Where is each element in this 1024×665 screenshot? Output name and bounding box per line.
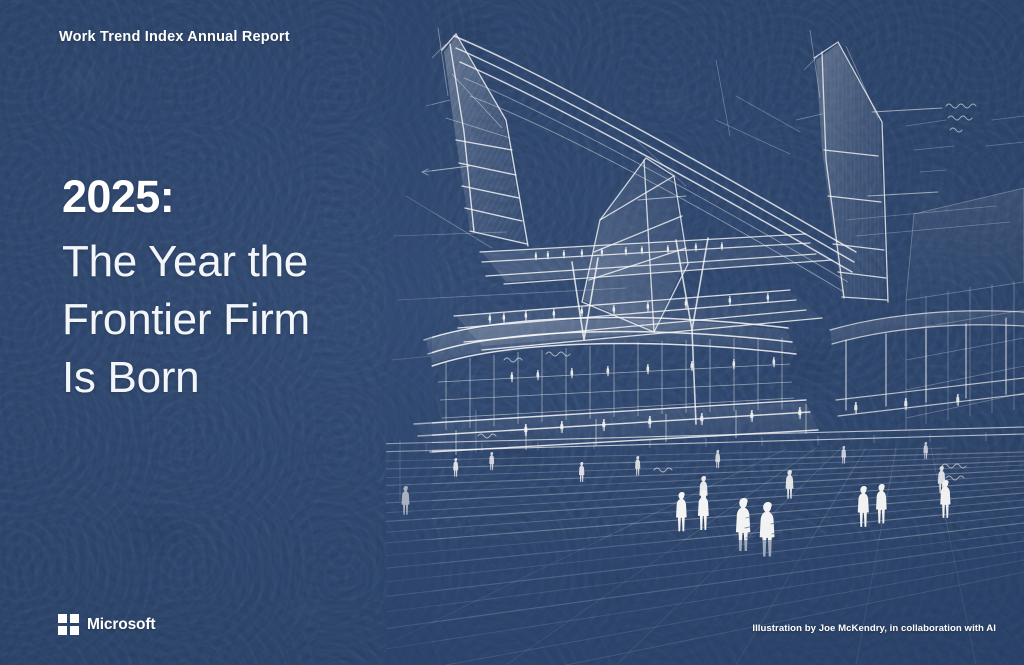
- report-cover-page: Work Trend Index Annual Report 2025: The…: [0, 0, 1024, 665]
- page-title-year: 2025:: [62, 174, 392, 219]
- microsoft-logo: Microsoft: [58, 614, 155, 635]
- sail-towers: [426, 28, 888, 332]
- logo-tile-top-right: [70, 614, 79, 623]
- cover-illustration: [386, 0, 1024, 665]
- figure-pair-left: [676, 492, 687, 531]
- microsoft-wordmark: Microsoft: [87, 616, 155, 634]
- page-title-line-2: Frontier Firm: [62, 291, 392, 349]
- page-title-main: The Year the Frontier Firm Is Born: [62, 233, 392, 407]
- page-title-line-3: Is Born: [62, 349, 392, 407]
- illustration-credit: Illustration by Joe McKendry, in collabo…: [752, 623, 996, 634]
- page-title-line-1: The Year the: [62, 233, 392, 291]
- report-series-label: Work Trend Index Annual Report: [59, 29, 290, 45]
- logo-tile-bottom-right: [70, 626, 79, 635]
- microsoft-squares-icon: [58, 614, 79, 635]
- page-title: 2025: The Year the Frontier Firm Is Born: [62, 174, 392, 407]
- logo-tile-top-left: [58, 614, 67, 623]
- logo-tile-bottom-left: [58, 626, 67, 635]
- blueprint-sketch-svg: [386, 0, 1024, 665]
